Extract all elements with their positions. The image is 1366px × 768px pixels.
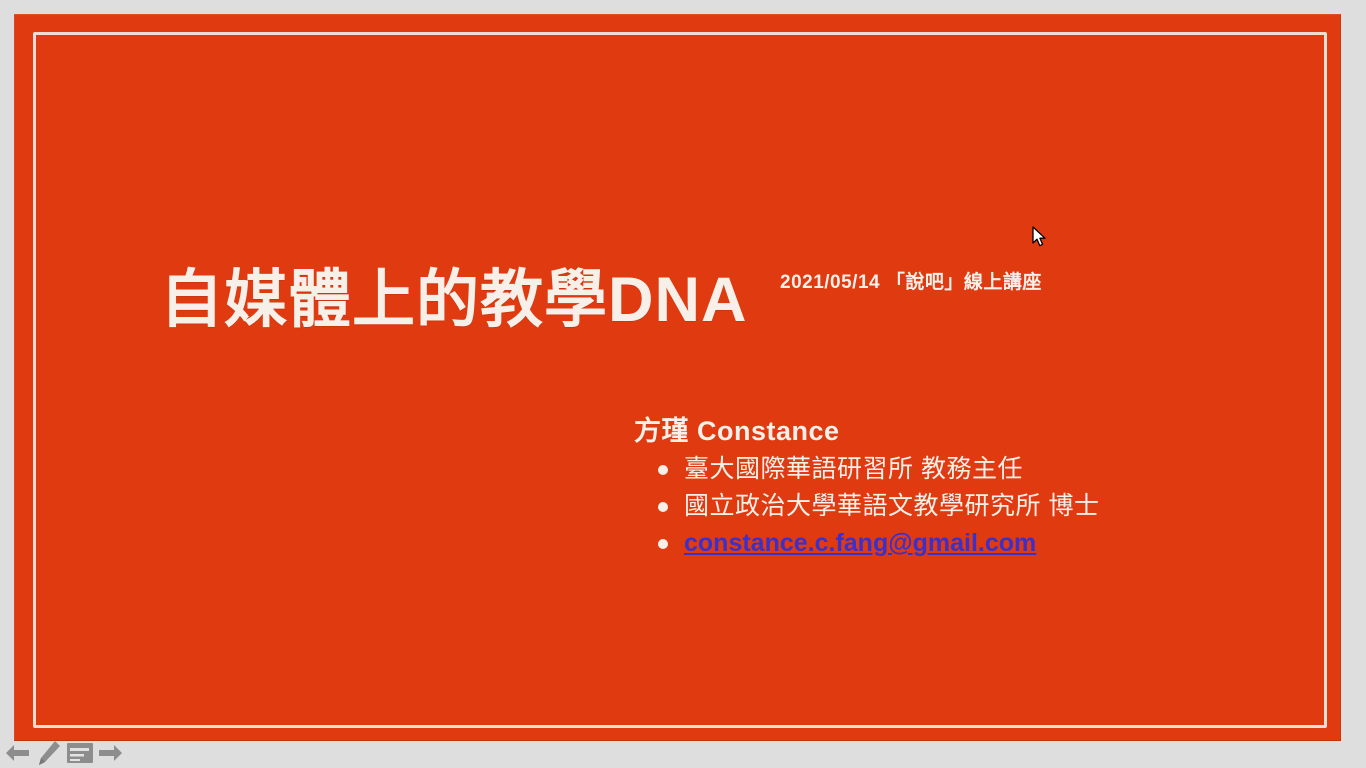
slide-viewer: 自媒體上的教學DNA 2021/05/14 「說吧」線上講座 方瑾 Consta…: [0, 0, 1366, 768]
next-slide-button[interactable]: [96, 740, 125, 766]
pencil-icon: [36, 740, 61, 766]
previous-slide-button[interactable]: [3, 740, 32, 766]
slide-decorative-frame: [33, 32, 1327, 728]
notes-icon: [66, 742, 94, 764]
session-date-label: 2021/05/14 「說吧」線上講座: [780, 271, 1042, 295]
presentation-slide[interactable]: 自媒體上的教學DNA 2021/05/14 「說吧」線上講座 方瑾 Consta…: [14, 14, 1341, 741]
slide-navigation-toolbar[interactable]: [0, 738, 133, 768]
credential-text: 國立政治大學華語文教學研究所 博士: [684, 492, 1099, 520]
bullet-icon: [658, 502, 668, 512]
list-item[interactable]: constance.c.fang@gmail.com: [684, 525, 1334, 562]
bullet-icon: [658, 465, 668, 475]
notes-panel-button[interactable]: [65, 740, 94, 766]
slide-title: 自媒體上的教學DNA: [160, 262, 748, 338]
credential-text: 臺大國際華語研習所 教務主任: [684, 455, 1023, 483]
speaker-info-block: 方瑾 Constance 臺大國際華語研習所 教務主任 國立政治大學華語文教學研…: [634, 414, 1334, 562]
pen-tool-button[interactable]: [34, 740, 63, 766]
arrow-right-icon: [97, 742, 124, 764]
speaker-name: 方瑾 Constance: [634, 414, 1334, 448]
arrow-left-icon: [4, 742, 31, 764]
contact-email-link[interactable]: constance.c.fang@gmail.com: [684, 529, 1036, 557]
bullet-icon: [658, 539, 668, 549]
list-item: 臺大國際華語研習所 教務主任: [684, 451, 1334, 488]
slide-title-row: 自媒體上的教學DNA 2021/05/14 「說吧」線上講座: [148, 262, 1248, 348]
speaker-credentials-list: 臺大國際華語研習所 教務主任 國立政治大學華語文教學研究所 博士 constan…: [634, 451, 1334, 562]
list-item: 國立政治大學華語文教學研究所 博士: [684, 488, 1334, 525]
